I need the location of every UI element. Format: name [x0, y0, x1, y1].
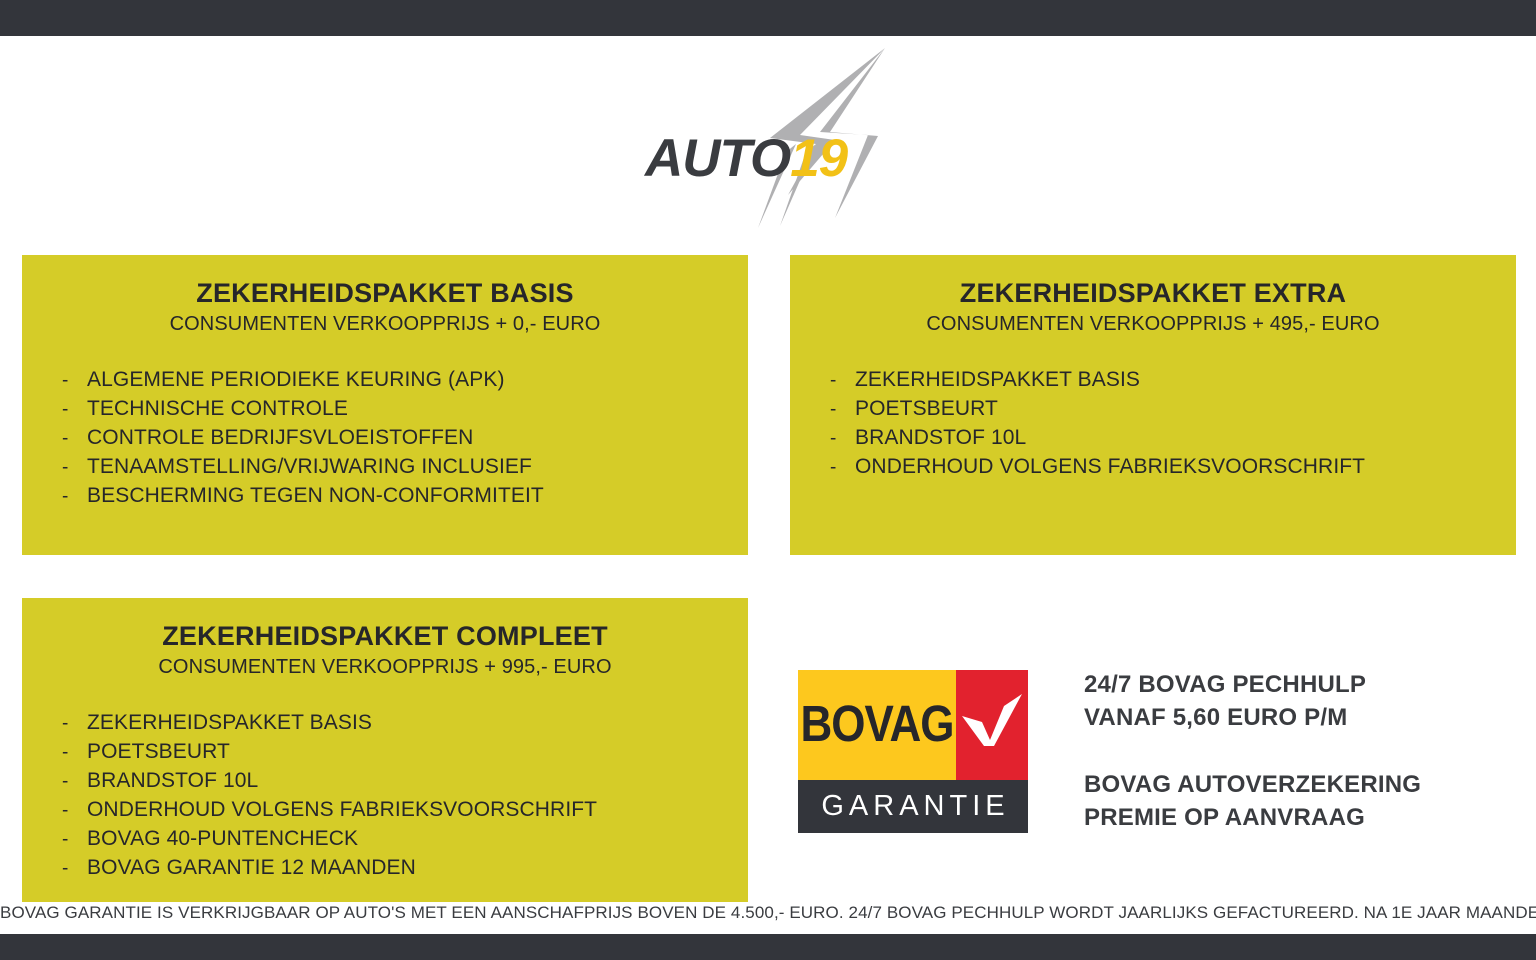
bovag-garantie-logo[interactable]: BOVAG GARANTIE — [798, 670, 1028, 833]
list-item: - BESCHERMING TEGEN NON-CONFORMITEIT — [42, 484, 748, 513]
bovag-logo-yellow-panel: BOVAG — [798, 670, 956, 780]
list-item: - ZEKERHEIDSPAKKET BASIS — [42, 711, 748, 740]
bovag-logo-red-panel — [956, 670, 1028, 780]
bovag-logo-top: BOVAG — [798, 670, 1028, 780]
verzekering-line-2: PREMIE OP AANVRAAG — [1084, 801, 1504, 834]
bullet-dash: - — [42, 829, 87, 851]
brand-wordmark-primary: AUTO — [645, 129, 790, 188]
package-subtitle: CONSUMENTEN VERKOOPPRIJS + 995,- EURO — [22, 656, 748, 679]
package-title: ZEKERHEIDSPAKKET COMPLEET — [22, 621, 748, 652]
package-subtitle: CONSUMENTEN VERKOOPPRIJS + 0,- EURO — [22, 313, 748, 336]
bullet-dash: - — [42, 858, 87, 880]
list-item: - TECHNISCHE CONTROLE — [42, 397, 748, 426]
list-item: - ZEKERHEIDSPAKKET BASIS — [810, 368, 1516, 397]
list-item-label: ZEKERHEIDSPAKKET BASIS — [87, 711, 372, 735]
top-chrome-bar — [0, 0, 1536, 36]
bullet-dash: - — [42, 713, 87, 735]
bullet-dash: - — [810, 370, 855, 392]
package-feature-list: - ALGEMENE PERIODIEKE KEURING (APK) - TE… — [22, 368, 748, 513]
bullet-dash: - — [810, 399, 855, 421]
pechhulp-line-2: VANAF 5,60 EURO P/M — [1084, 701, 1504, 734]
list-item-label: ONDERHOUD VOLGENS FABRIEKSVOORSCHRIFT — [87, 798, 597, 822]
bullet-dash: - — [42, 771, 87, 793]
checkmark-icon — [960, 692, 1026, 758]
list-item-label: TENAAMSTELLING/VRIJWARING INCLUSIEF — [87, 455, 532, 479]
list-item-label: BRANDSTOF 10L — [855, 426, 1026, 450]
bullet-dash: - — [810, 457, 855, 479]
bovag-services-info: 24/7 BOVAG PECHHULP VANAF 5,60 EURO P/M … — [1084, 668, 1504, 834]
list-item-label: CONTROLE BEDRIJFSVLOEISTOFFEN — [87, 426, 473, 450]
list-item-label: POETSBEURT — [87, 740, 230, 764]
list-item: - CONTROLE BEDRIJFSVLOEISTOFFEN — [42, 426, 748, 455]
brand-wordmark: AUTO19 — [645, 132, 847, 185]
package-subtitle: CONSUMENTEN VERKOOPPRIJS + 495,- EURO — [790, 313, 1516, 336]
package-card-extra[interactable]: ZEKERHEIDSPAKKET EXTRA CONSUMENTEN VERKO… — [790, 255, 1516, 555]
package-feature-list: - ZEKERHEIDSPAKKET BASIS - POETSBEURT - … — [22, 711, 748, 885]
list-item-label: TECHNISCHE CONTROLE — [87, 397, 348, 421]
list-item-label: ONDERHOUD VOLGENS FABRIEKSVOORSCHRIFT — [855, 455, 1365, 479]
list-item-label: BOVAG 40-PUNTENCHECK — [87, 827, 358, 851]
package-title: ZEKERHEIDSPAKKET EXTRA — [790, 278, 1516, 309]
list-item-label: BRANDSTOF 10L — [87, 769, 258, 793]
list-item: - ONDERHOUD VOLGENS FABRIEKSVOORSCHRIFT — [810, 455, 1516, 484]
package-card-basis[interactable]: ZEKERHEIDSPAKKET BASIS CONSUMENTEN VERKO… — [22, 255, 748, 555]
bottom-chrome-bar — [0, 934, 1536, 960]
footer-disclaimer: BOVAG GARANTIE IS VERKRIJGBAAR OP AUTO'S… — [0, 903, 1536, 923]
list-item-label: BESCHERMING TEGEN NON-CONFORMITEIT — [87, 484, 544, 508]
package-feature-list: - ZEKERHEIDSPAKKET BASIS - POETSBEURT - … — [790, 368, 1516, 484]
list-item: - POETSBEURT — [42, 740, 748, 769]
bullet-dash: - — [42, 428, 87, 450]
list-item-label: ALGEMENE PERIODIEKE KEURING (APK) — [87, 368, 505, 392]
bullet-dash: - — [42, 486, 87, 508]
list-item-label: ZEKERHEIDSPAKKET BASIS — [855, 368, 1140, 392]
brand-wordmark-accent: 19 — [790, 129, 847, 188]
list-item: - TENAAMSTELLING/VRIJWARING INCLUSIEF — [42, 455, 748, 484]
list-item: - BRANDSTOF 10L — [42, 769, 748, 798]
list-item: - BRANDSTOF 10L — [810, 426, 1516, 455]
list-item-label: BOVAG GARANTIE 12 MAANDEN — [87, 856, 416, 880]
list-item: - BOVAG 40-PUNTENCHECK — [42, 827, 748, 856]
bullet-dash: - — [810, 428, 855, 450]
bullet-dash: - — [42, 399, 87, 421]
list-item: - BOVAG GARANTIE 12 MAANDEN — [42, 856, 748, 885]
bullet-dash: - — [42, 370, 87, 392]
list-item: - ALGEMENE PERIODIEKE KEURING (APK) — [42, 368, 748, 397]
list-item: - POETSBEURT — [810, 397, 1516, 426]
bovag-logo-bottom-panel: GARANTIE — [798, 780, 1028, 833]
list-item: - ONDERHOUD VOLGENS FABRIEKSVOORSCHRIFT — [42, 798, 748, 827]
brand-logo[interactable]: AUTO19 — [620, 40, 920, 230]
package-card-compleet[interactable]: ZEKERHEIDSPAKKET COMPLEET CONSUMENTEN VE… — [22, 598, 748, 902]
bullet-dash: - — [42, 742, 87, 764]
pechhulp-line-1: 24/7 BOVAG PECHHULP — [1084, 668, 1504, 701]
package-title: ZEKERHEIDSPAKKET BASIS — [22, 278, 748, 309]
bovag-garantie-label: GARANTIE — [816, 792, 1009, 821]
bovag-wordmark: BOVAG — [800, 700, 953, 751]
info-spacer — [1084, 734, 1504, 768]
verzekering-line-1: BOVAG AUTOVERZEKERING — [1084, 768, 1504, 801]
bullet-dash: - — [42, 800, 87, 822]
page-root: AUTO19 ZEKERHEIDSPAKKET BASIS CONSUMENTE… — [0, 0, 1536, 960]
list-item-label: POETSBEURT — [855, 397, 998, 421]
bullet-dash: - — [42, 457, 87, 479]
